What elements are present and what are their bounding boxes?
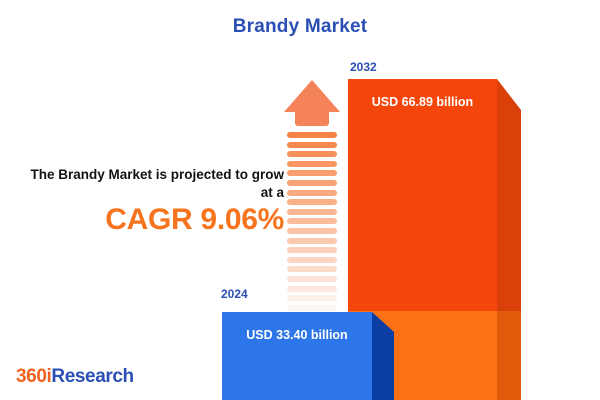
arrow-segment <box>287 266 337 272</box>
arrow-segment <box>287 228 337 234</box>
callout-text: The Brandy Market is projected to grow a… <box>22 166 284 202</box>
bar-2032-side-face-lower <box>497 311 521 400</box>
arrow-segment <box>287 247 337 253</box>
growth-arrow-icon <box>284 80 340 298</box>
arrow-head-icon <box>284 80 340 130</box>
bar-2032-year-label: 2032 <box>350 60 377 74</box>
bar-2032-front-face-top <box>348 79 497 311</box>
arrow-segment <box>287 209 337 215</box>
cagr-value: CAGR 9.06% <box>22 203 284 237</box>
arrow-segment <box>287 286 337 292</box>
arrow-segment <box>287 190 337 196</box>
arrow-segment <box>287 305 337 311</box>
arrow-segment <box>287 180 337 186</box>
bar-2024-value-label: USD 33.40 billion <box>222 328 372 342</box>
arrow-segment <box>287 170 337 176</box>
arrow-head-triangle <box>284 80 340 112</box>
logo-text-blue: Research <box>51 366 133 387</box>
page-title: Brandy Market <box>0 16 600 38</box>
bar-2024-front-face <box>222 312 372 400</box>
arrow-segment <box>287 218 337 224</box>
arrow-segment <box>287 132 337 138</box>
logo-text-orange: 360i <box>16 366 51 387</box>
infographic-canvas: Brandy Market The Brandy Market is proje… <box>0 0 600 400</box>
arrow-segment <box>287 295 337 301</box>
bar-2032-value-label: USD 66.89 billion <box>348 95 497 109</box>
arrow-segment <box>287 161 337 167</box>
arrow-segment <box>287 151 337 157</box>
arrow-segment <box>287 257 337 263</box>
arrow-head-neck <box>295 112 329 126</box>
arrow-segment <box>287 199 337 205</box>
arrow-segment <box>287 276 337 282</box>
bar-2024-year-label: 2024 <box>221 287 248 301</box>
arrow-segment <box>287 142 337 148</box>
brand-logo: 360iResearch <box>16 366 134 388</box>
arrow-segment <box>287 238 337 244</box>
